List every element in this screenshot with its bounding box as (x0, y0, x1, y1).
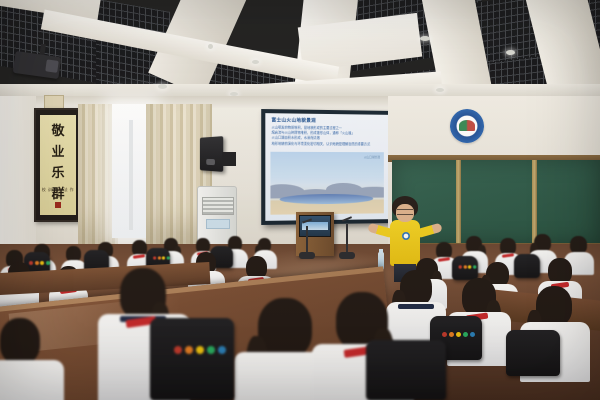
confidence-monitor (299, 215, 331, 237)
ceiling (0, 0, 600, 104)
slide-photo-caption: 火山口湖景观 (364, 155, 380, 159)
calligraphy-subtext: 校 训 · 书 法 作 品 (40, 187, 76, 199)
chair (452, 256, 478, 280)
slide-bullet: 地形地貌的演化与环境变化密切相关，认识地貌是理解自然的重要方式 (271, 141, 383, 147)
chalkboard-divider (532, 160, 537, 244)
chair-logo-icon (459, 265, 476, 268)
chair-logo-icon (29, 261, 50, 265)
ceiling-light-icon (420, 36, 430, 41)
microphone-stand (306, 226, 308, 254)
ceiling-light-icon (506, 50, 515, 55)
slide-photo: 火山口湖景观 (270, 152, 383, 215)
microphone-base (339, 252, 355, 259)
classroom-photo: 敬 业 乐 群 校 训 · 书 法 作 品 富士山火山地貌景观 火山喷发的物质堆… (0, 0, 600, 400)
chair (514, 254, 540, 278)
presenter-shirt (390, 220, 420, 266)
calligraphy-paper: 敬 业 乐 群 校 训 · 书 法 作 品 (40, 115, 76, 215)
chair (150, 318, 234, 400)
ceiling-light-icon (208, 44, 213, 49)
loudspeaker-icon (200, 136, 223, 172)
chair (366, 340, 446, 400)
calligraphy-seal-icon (55, 202, 61, 208)
ceiling-light-icon (436, 88, 444, 92)
school-emblem-icon (450, 109, 484, 143)
chair-logo-icon (442, 332, 475, 337)
chalkboard-divider (456, 160, 461, 244)
chair-logo-icon (153, 256, 169, 259)
ceiling-light-icon (252, 60, 259, 64)
glasses-icon (397, 209, 413, 215)
slide-bullet-list: 火山喷发的物质堆积，是地貌形成的主要过程之一 熔岩流与火山碎屑物堆积，形成锥形山… (271, 125, 383, 147)
ac-vent (202, 197, 234, 215)
microphone-stand (346, 224, 348, 254)
slide-title: 富士山火山地貌景观 (271, 117, 316, 124)
speaker-bracket (222, 152, 236, 166)
presenter-badge-icon (402, 232, 410, 240)
ceiling-light-icon (158, 84, 167, 89)
chair-logo-icon (174, 346, 226, 354)
ac-display (206, 219, 230, 229)
wall-column (0, 96, 36, 246)
chair (506, 330, 560, 376)
window-mullion (129, 120, 133, 230)
microphone-base (299, 252, 315, 259)
calligraphy-frame: 敬 业 乐 群 校 训 · 书 法 作 品 (34, 108, 82, 222)
